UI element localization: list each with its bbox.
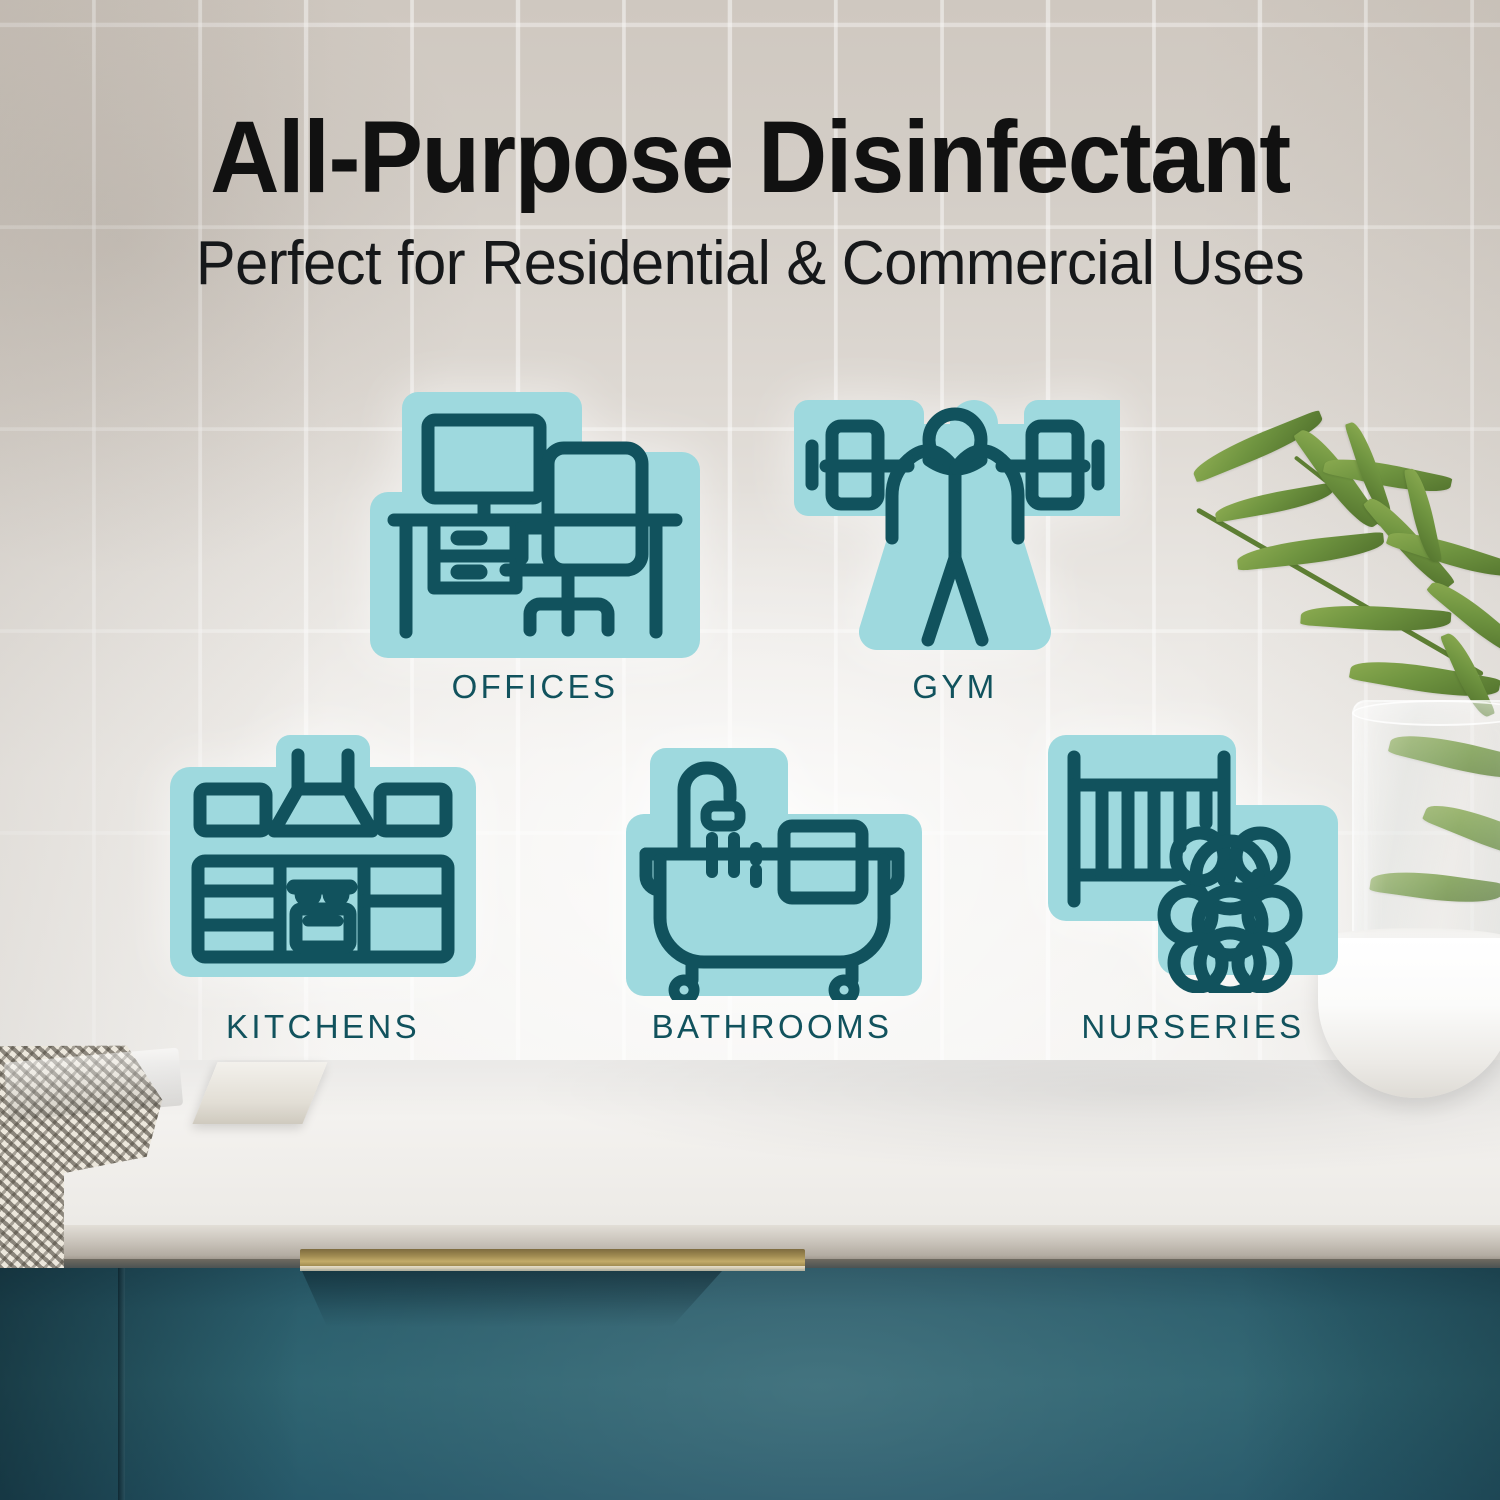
product-lifestyle-banner: All-Purpose Disinfectant Perfect for Res…	[0, 0, 1500, 1500]
use-case-offices[interactable]	[370, 392, 700, 660]
page-title: All-Purpose Disinfectant	[45, 106, 1455, 208]
caption-offices: OFFICES	[370, 668, 700, 706]
clawfoot-bathtub-shower-icon	[622, 748, 922, 1000]
drawer-handle-highlight	[300, 1266, 805, 1271]
use-case-gym[interactable]	[790, 388, 1120, 660]
drawer-handle-shadow	[302, 1271, 722, 1327]
use-case-nurseries[interactable]	[1048, 735, 1338, 993]
caption-kitchens: KITCHENS	[168, 1008, 478, 1046]
page-subtitle: Perfect for Residential & Commercial Use…	[30, 233, 1470, 295]
teal-cabinet	[0, 1268, 1500, 1500]
kitchen-cabinets-stove-icon	[168, 735, 478, 997]
use-case-kitchens[interactable]	[168, 735, 478, 997]
cabinet-left-shadow	[0, 1268, 300, 1500]
use-case-bathrooms[interactable]	[622, 748, 922, 1000]
caption-bathrooms: BATHROOMS	[612, 1008, 932, 1046]
caption-nurseries: NURSERIES	[1038, 1008, 1348, 1046]
weightlifter-barbell-icon	[790, 388, 1120, 660]
cabinet-seam	[118, 1268, 125, 1500]
cabinet-right-shadow	[1240, 1268, 1500, 1500]
office-desk-chair-icon	[370, 392, 700, 660]
caption-gym: GYM	[790, 668, 1120, 706]
baby-crib-teddy-bear-icon	[1048, 735, 1338, 993]
